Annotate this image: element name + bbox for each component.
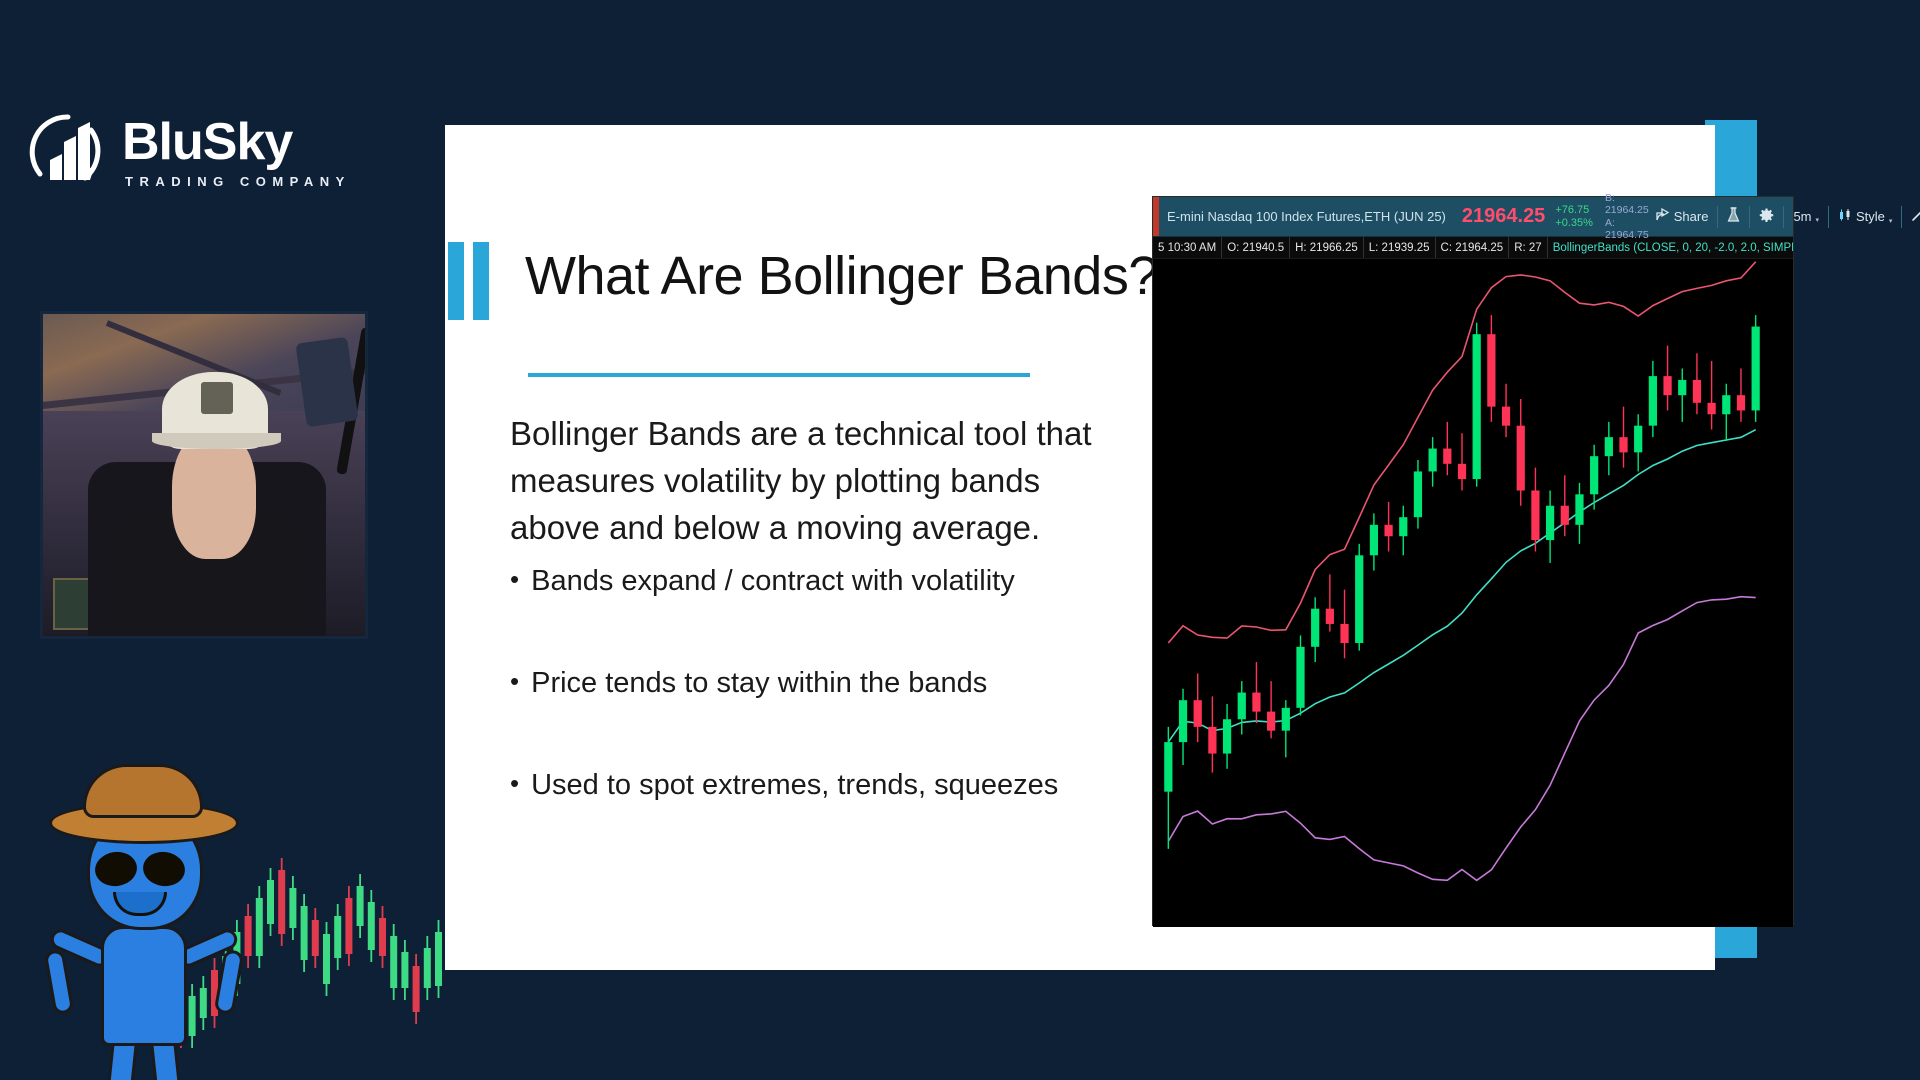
candlestick-plot-area[interactable]	[1153, 259, 1793, 927]
title-divider	[528, 373, 1030, 377]
presenter-webcam	[40, 311, 368, 639]
ohlc-status-bar: 5 10:30 AM O: 21940.5 H: 21966.25 L: 219…	[1153, 237, 1793, 259]
style-button[interactable]: Style ▾	[1831, 204, 1899, 229]
settings-button[interactable]	[1752, 204, 1781, 230]
bullet-text: Bands expand / contract with volatility	[531, 565, 1015, 598]
ohlc-low: L: 21939.25	[1364, 237, 1436, 258]
red-marker	[1153, 197, 1159, 236]
flask-icon	[1727, 207, 1740, 226]
brand-name: BluSky	[122, 116, 351, 168]
price-change: +76.75 +0.35%	[1555, 204, 1593, 229]
list-item: • Bands expand / contract with volatilit…	[510, 565, 1130, 598]
share-icon	[1656, 208, 1670, 225]
ask-value: A: 21964.75	[1605, 217, 1649, 241]
change-abs: +76.75	[1555, 204, 1593, 217]
bullet-marker: •	[510, 769, 519, 802]
wall-picture	[53, 578, 92, 630]
indicators-button[interactable]	[1720, 203, 1747, 230]
share-label: Share	[1674, 209, 1709, 224]
ohlc-range: R: 27	[1509, 237, 1548, 258]
bullet-marker: •	[510, 565, 519, 598]
bullet-text: Used to spot extremes, trends, squeezes	[531, 769, 1058, 802]
timeframe-button[interactable]: 5m ▾	[1786, 205, 1826, 228]
ohlc-close: C: 21964.25	[1436, 237, 1510, 258]
brand-logo: BluSky TRADING COMPANY	[28, 112, 351, 192]
pencil-line-icon	[1911, 208, 1920, 225]
last-price: 21964.25	[1462, 205, 1545, 228]
gear-icon	[1759, 208, 1774, 226]
symbol-label[interactable]: E-mini Nasdaq 100 Index Futures,ETH (JUN…	[1167, 209, 1446, 224]
slide-paragraph: Bollinger Bands are a technical tool tha…	[510, 410, 1110, 552]
candles-icon	[1838, 208, 1852, 225]
title-accent-bars	[448, 242, 489, 320]
chevron-down-icon: ▾	[1889, 217, 1893, 225]
bar-chart-circle-logo-icon	[28, 112, 108, 192]
bullet-marker: •	[510, 667, 519, 700]
list-item: • Used to spot extremes, trends, squeeze…	[510, 769, 1130, 802]
athletics-a-logo-icon	[201, 382, 233, 414]
brand-tagline: TRADING COMPANY	[125, 175, 351, 188]
chart-tool-buttons: Share 5m ▾	[1649, 203, 1920, 230]
ohlc-high: H: 21966.25	[1290, 237, 1364, 258]
timeframe-label: 5m	[1793, 209, 1811, 224]
drawings-button[interactable]: Drawings ▾	[1904, 204, 1920, 229]
chevron-down-icon: ▾	[1816, 216, 1820, 224]
trading-chart-panel: E-mini Nasdaq 100 Index Futures,ETH (JUN…	[1152, 196, 1794, 926]
page-title: What Are Bollinger Bands?	[525, 245, 1158, 307]
ohlc-open: O: 21940.5	[1222, 237, 1290, 258]
style-label: Style	[1856, 209, 1885, 224]
change-pct: +0.35%	[1555, 217, 1593, 230]
bid-ask: B: 21964.25 A: 21964.75	[1605, 192, 1649, 240]
microphone	[295, 337, 358, 427]
ohlc-time: 5 10:30 AM	[1153, 237, 1222, 258]
chart-toolbar: E-mini Nasdaq 100 Index Futures,ETH (JUN…	[1153, 197, 1793, 237]
slide-bullet-list: • Bands expand / contract with volatilit…	[510, 565, 1130, 871]
bid-value: B: 21964.25	[1605, 192, 1649, 216]
share-button[interactable]: Share	[1649, 204, 1716, 229]
indicator-label[interactable]: BollingerBands (CLOSE, 0, 20, -2.0, 2.0,…	[1548, 242, 1793, 254]
bullet-text: Price tends to stay within the bands	[531, 667, 987, 700]
mascot-graphic	[0, 720, 470, 1080]
list-item: • Price tends to stay within the bands	[510, 667, 1130, 700]
blue-alien-cowboy-mascot	[35, 740, 265, 1080]
